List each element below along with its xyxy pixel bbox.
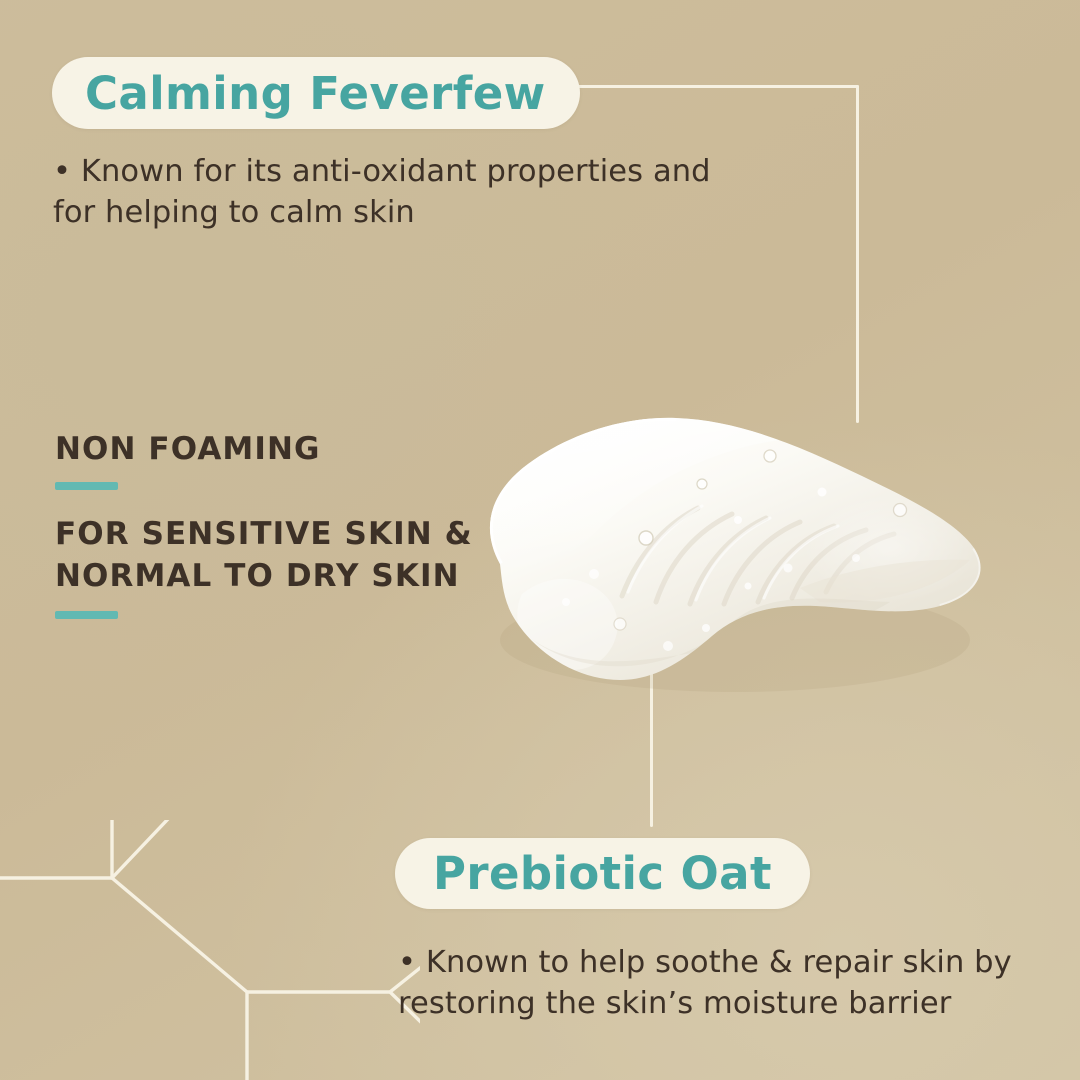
callout-body-oat: • Known to help soothe & repair skin by …	[398, 943, 1058, 1024]
honeycomb-pattern-icon	[0, 820, 420, 1080]
connector-line-feverfew-vertical	[856, 85, 859, 423]
claim-skin-type: FOR SENSITIVE SKIN & NORMAL TO DRY SKIN	[55, 513, 473, 619]
claim-non-foaming-rule	[55, 482, 118, 490]
callout-title-oat: Prebiotic Oat	[433, 847, 772, 900]
claim-non-foaming: NON FOAMING	[55, 428, 321, 490]
infographic-canvas: Calming Feverfew • Known for its anti-ox…	[0, 0, 1080, 1080]
claim-non-foaming-text: NON FOAMING	[55, 428, 321, 470]
callout-pill-feverfew: Calming Feverfew	[52, 57, 580, 129]
callout-title-feverfew: Calming Feverfew	[85, 67, 546, 120]
claim-skin-type-text: FOR SENSITIVE SKIN & NORMAL TO DRY SKIN	[55, 513, 473, 597]
connector-line-feverfew-horizontal	[562, 85, 859, 88]
claim-skin-type-rule	[55, 611, 118, 619]
callout-pill-oat: Prebiotic Oat	[395, 838, 810, 909]
callout-body-feverfew: • Known for its anti-oxidant properties …	[53, 152, 733, 233]
cream-texture-swatch	[470, 388, 1000, 698]
